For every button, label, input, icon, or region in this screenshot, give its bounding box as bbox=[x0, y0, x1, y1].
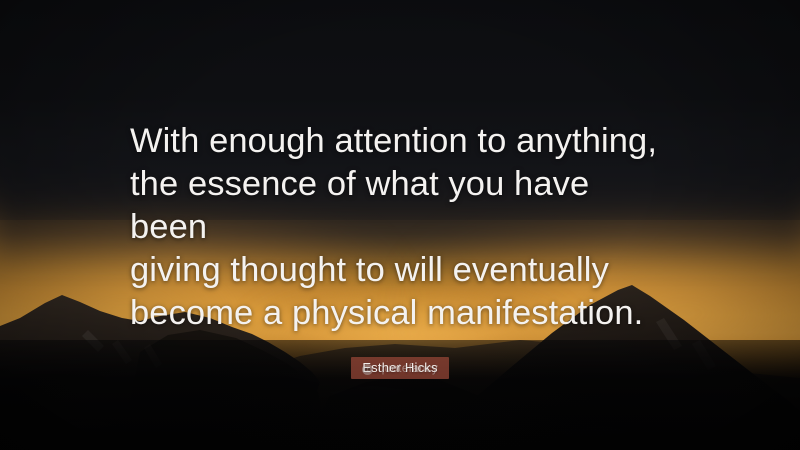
watermark-brand-text: quotefancy bbox=[378, 363, 438, 375]
quote-badge-icon bbox=[362, 364, 373, 375]
quote-image-card: With enough attention to anything, the e… bbox=[0, 0, 800, 450]
quote-text: With enough attention to anything, the e… bbox=[130, 120, 670, 335]
quote-content: With enough attention to anything, the e… bbox=[0, 0, 800, 450]
quotefancy-watermark: quotefancy bbox=[0, 363, 800, 375]
